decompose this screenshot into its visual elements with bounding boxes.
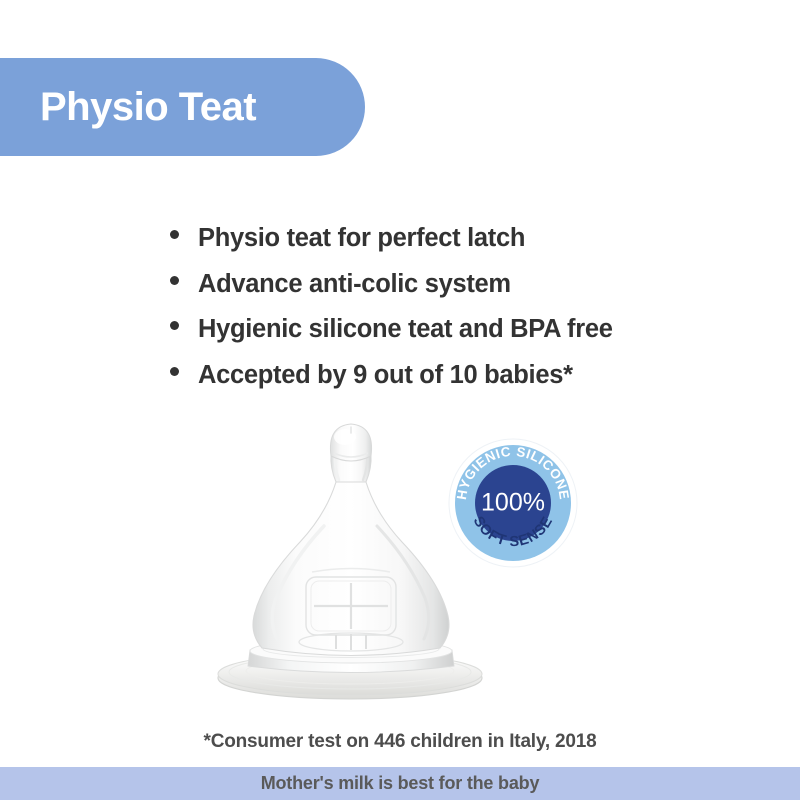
bottom-disclaimer-bar: Mother's milk is best for the baby <box>0 767 800 800</box>
list-item: Advance anti-colic system <box>170 268 770 302</box>
disclaimer-text: Mother's milk is best for the baby <box>261 773 540 794</box>
feature-label: Physio teat for perfect latch <box>198 222 525 256</box>
feature-label: Advance anti-colic system <box>198 268 511 302</box>
bullet-dot-icon <box>170 367 179 376</box>
page-title: Physio Teat <box>40 87 256 127</box>
bullet-dot-icon <box>170 230 179 239</box>
badge-center-text: 100% <box>481 489 545 517</box>
feature-label: Hygienic silicone teat and BPA free <box>198 313 613 347</box>
feature-list: Physio teat for perfect latch Advance an… <box>170 222 770 405</box>
list-item: Physio teat for perfect latch <box>170 222 770 256</box>
bullet-dot-icon <box>170 276 179 285</box>
feature-label: Accepted by 9 out of 10 babies* <box>198 359 573 393</box>
product-image <box>0 420 800 720</box>
header-banner: Physio Teat <box>0 58 365 156</box>
status-badge: HYGIENIC SILICONE SOFT SENSE 100% <box>446 436 580 570</box>
list-item: Accepted by 9 out of 10 babies* <box>170 359 770 393</box>
list-item: Hygienic silicone teat and BPA free <box>170 313 770 347</box>
bullet-dot-icon <box>170 321 179 330</box>
footnote-text: *Consumer test on 446 children in Italy,… <box>0 731 800 753</box>
